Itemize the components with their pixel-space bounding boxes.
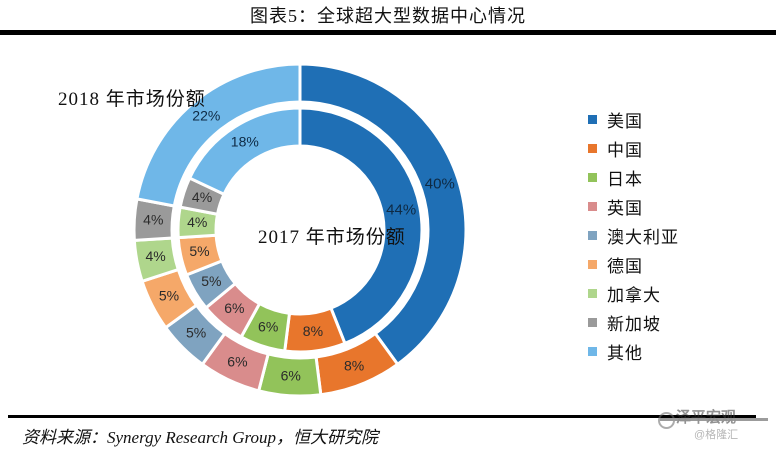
legend-label: 澳大利亚 — [607, 223, 679, 248]
legend-item-6[interactable]: 加拿大 — [588, 279, 738, 308]
legend-swatch-icon — [588, 260, 597, 269]
watermark-handle: @格隆汇 — [694, 426, 738, 442]
legend-item-0[interactable]: 美国 — [588, 105, 738, 134]
legend-swatch-icon — [588, 202, 597, 211]
legend-swatch-icon — [588, 115, 597, 124]
legend-swatch-icon — [588, 289, 597, 298]
legend-label: 美国 — [607, 107, 643, 132]
legend-label: 日本 — [607, 165, 643, 190]
legend-swatch-icon — [588, 144, 597, 153]
watermark-title: 泽平宏观 — [676, 406, 736, 427]
legend-item-3[interactable]: 英国 — [588, 192, 738, 221]
legend-label: 英国 — [607, 194, 643, 219]
legend-label: 中国 — [607, 136, 643, 161]
figure-container: 图表5：全球超大型数据中心情况 40%8%6%6%5%5%4%4%22% 44%… — [0, 0, 776, 451]
legend-item-8[interactable]: 其他 — [588, 337, 738, 366]
page-title: 图表5：全球超大型数据中心情况 — [0, 2, 776, 28]
legend-label: 新加坡 — [607, 310, 661, 335]
watermark: 泽平宏观 @格隆汇 — [656, 400, 772, 446]
legend-swatch-icon — [588, 173, 597, 182]
legend-label: 加拿大 — [607, 281, 661, 306]
legend-swatch-icon — [588, 231, 597, 240]
source-note: 资料来源：Synergy Research Group，恒大研究院 — [22, 423, 378, 448]
legend-swatch-icon — [588, 347, 597, 356]
legend-item-1[interactable]: 中国 — [588, 134, 738, 163]
footer-divider — [8, 415, 756, 418]
inner-ring-label: 2017 年市场份额 — [258, 222, 406, 249]
title-divider — [0, 30, 776, 35]
legend-label: 其他 — [607, 339, 643, 364]
legend-swatch-icon — [588, 318, 597, 327]
legend-label: 德国 — [607, 252, 643, 277]
outer-ring-label: 2018 年市场份额 — [58, 84, 206, 111]
legend-item-2[interactable]: 日本 — [588, 163, 738, 192]
legend-item-5[interactable]: 德国 — [588, 250, 738, 279]
legend-item-7[interactable]: 新加坡 — [588, 308, 738, 337]
legend: 美国中国日本英国澳大利亚德国加拿大新加坡其他 — [588, 105, 738, 366]
legend-item-4[interactable]: 澳大利亚 — [588, 221, 738, 250]
